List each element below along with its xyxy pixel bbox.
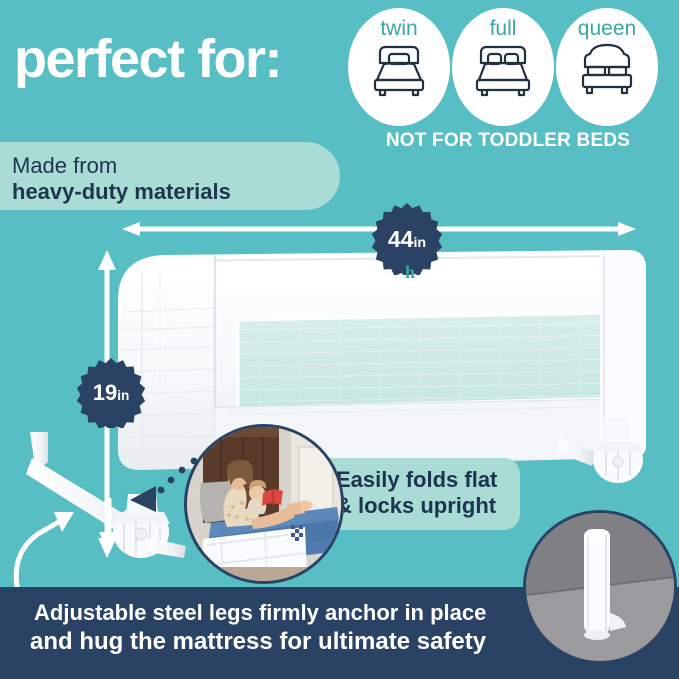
- leg-down-arrow: [98, 498, 120, 556]
- lifestyle-photo-inset: [184, 424, 344, 584]
- infographic-canvas: 44in 19in h perfect for:: [0, 0, 679, 679]
- badge-width-text: 44in: [388, 228, 426, 251]
- bed-size-label: full: [490, 18, 517, 39]
- leg-callout-arrow: [4, 488, 94, 598]
- folds-badge-line1: Easily folds flat: [336, 467, 520, 493]
- measurement-badge-height: 19in: [76, 358, 146, 428]
- twin-bed-icon: [367, 41, 431, 101]
- queen-bed-icon: [575, 41, 639, 101]
- bed-size-twin: twin: [348, 8, 450, 126]
- bed-size-label: twin: [380, 18, 417, 39]
- brand-logo: h: [405, 262, 415, 283]
- bed-size-queen: queen: [556, 8, 658, 126]
- leg-detail-inset: [523, 510, 677, 664]
- folds-badge-line2: & locks upright: [336, 493, 520, 519]
- bed-size-list: twin full: [348, 8, 658, 126]
- material-badge-line1: Made from: [12, 153, 340, 179]
- page-title: perfect for:: [14, 32, 281, 86]
- warning-text: NOT FOR TODDLER BEDS: [358, 130, 658, 152]
- full-bed-icon: [471, 41, 535, 101]
- bed-size-label: queen: [578, 18, 636, 39]
- bed-size-full: full: [452, 8, 554, 126]
- material-badge-line2: heavy-duty materials: [12, 179, 340, 205]
- badge-height-text: 19in: [93, 382, 130, 404]
- material-badge: Made from heavy-duty materials: [0, 142, 340, 210]
